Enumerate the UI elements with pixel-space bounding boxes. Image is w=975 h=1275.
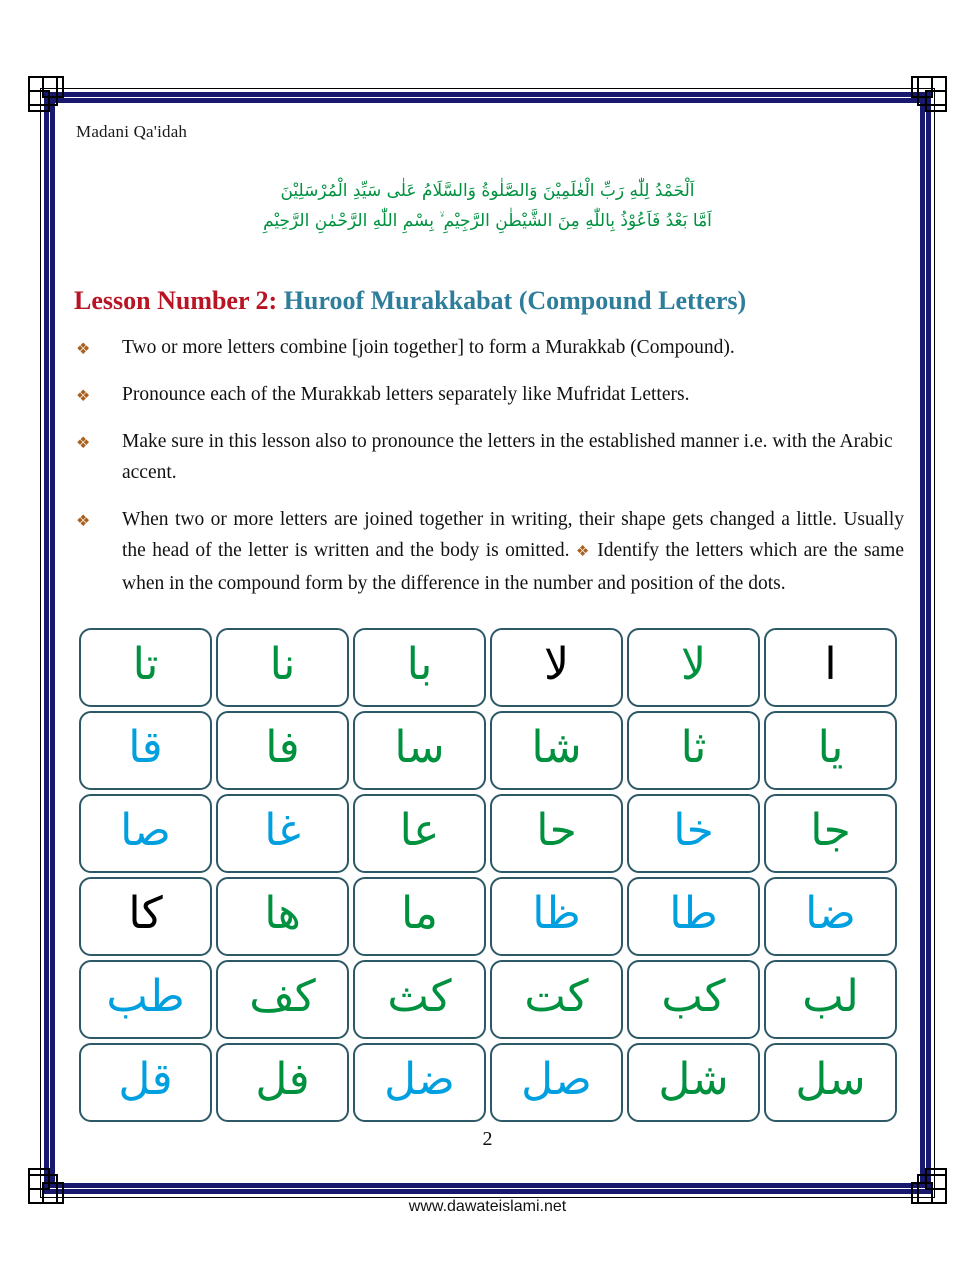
letter-cell[interactable]: قا (79, 711, 212, 790)
letter-glyph: صا (120, 809, 171, 859)
letter-glyph: شا (531, 726, 581, 776)
basmala-block: اَلْحَمْدُ لِلّٰهِ رَبِّ الْعٰلَمِيْنَ و… (57, 176, 918, 236)
letter-cell[interactable]: كب (627, 960, 760, 1039)
list-item: ❖ Two or more letters combine [join toge… (74, 332, 904, 363)
corner-ornament-top-left (28, 76, 74, 122)
letter-glyph: ضل (384, 1058, 455, 1108)
letter-cell[interactable]: غا (216, 794, 349, 873)
letter-glyph: شل (658, 1058, 728, 1108)
letter-cell[interactable]: كا (79, 877, 212, 956)
letter-cell[interactable]: صا (79, 794, 212, 873)
letter-glyph: خا (673, 809, 714, 859)
letter-glyph: كف (249, 975, 316, 1025)
letter-glyph: كت (524, 975, 588, 1025)
letter-cell[interactable]: ا (764, 628, 897, 707)
letter-glyph: جا (810, 809, 851, 859)
diamond-bullet-icon: ❖ (76, 334, 90, 365)
list-item-text: Make sure in this lesson also to pronoun… (122, 431, 893, 483)
letter-cell[interactable]: جا (764, 794, 897, 873)
page-number: 2 (0, 1128, 975, 1151)
letter-glyph: طا (669, 892, 717, 942)
list-item: ❖ Make sure in this lesson also to prono… (74, 426, 904, 488)
letter-cell[interactable]: كث (353, 960, 486, 1039)
letter-glyph: فا (265, 726, 299, 776)
letter-glyph: كث (387, 975, 451, 1025)
letter-cell[interactable]: عا (353, 794, 486, 873)
diamond-bullet-icon: ❖ (76, 428, 90, 459)
letter-glyph: نا (270, 643, 296, 693)
page-title: Lesson Number 2: Huroof Murakkabat (Comp… (74, 286, 904, 316)
letter-cell[interactable]: طا (627, 877, 760, 956)
letter-glyph: فل (255, 1058, 309, 1108)
letter-cell[interactable]: نا (216, 628, 349, 707)
letter-cell[interactable]: سل (764, 1043, 897, 1122)
diamond-bullet-icon: ❖ (76, 381, 90, 412)
letter-cell[interactable]: قل (79, 1043, 212, 1122)
letter-cell[interactable]: طب (79, 960, 212, 1039)
letter-cell[interactable]: صل (490, 1043, 623, 1122)
basmala-line-2: اَمَّا بَعْدُ فَاَعُوْذُ بِاللّٰهِ مِنَ … (57, 206, 918, 236)
letter-cell[interactable]: فل (216, 1043, 349, 1122)
letter-cell[interactable]: ثا (627, 711, 760, 790)
letter-glyph: لا (544, 643, 569, 693)
site-url: www.dawateislami.net (0, 1198, 975, 1216)
compound-letter-grid: تانابالالااقافاساشاثاياصاغاعاحاخاجاكاهام… (77, 626, 899, 1124)
letter-cell[interactable]: ظا (490, 877, 623, 956)
letter-glyph: صل (521, 1058, 592, 1108)
lesson-notes-list: ❖ Two or more letters combine [join toge… (74, 332, 904, 615)
running-head: Madani Qa'idah (76, 122, 187, 142)
letter-glyph: ما (401, 892, 438, 942)
lesson-number-label: Lesson Number 2: (74, 286, 277, 315)
letter-glyph: ثا (681, 726, 707, 776)
letter-glyph: غا (264, 809, 300, 859)
list-item: ❖ Pronounce each of the Murakkab letters… (74, 379, 904, 410)
basmala-line-1: اَلْحَمْدُ لِلّٰهِ رَبِّ الْعٰلَمِيْنَ و… (57, 176, 918, 206)
letter-glyph: ضا (805, 892, 856, 942)
letter-glyph: ظا (532, 892, 580, 942)
lesson-name: Huroof Murakkabat (Compound Letters) (284, 286, 746, 315)
letter-cell[interactable]: لا (627, 628, 760, 707)
letter-cell[interactable]: خا (627, 794, 760, 873)
list-item: ❖ When two or more letters are joined to… (74, 504, 904, 599)
letter-cell[interactable]: سا (353, 711, 486, 790)
letter-glyph: طب (106, 975, 184, 1025)
letter-glyph: كب (661, 975, 725, 1025)
letter-glyph: حا (536, 809, 577, 859)
letter-glyph: قل (118, 1058, 172, 1108)
letter-cell[interactable]: كت (490, 960, 623, 1039)
letter-cell[interactable]: ها (216, 877, 349, 956)
letter-cell[interactable]: لب (764, 960, 897, 1039)
letter-cell[interactable]: يا (764, 711, 897, 790)
letter-glyph: با (407, 643, 433, 693)
letter-cell[interactable]: با (353, 628, 486, 707)
list-item-text: Two or more letters combine [join togeth… (122, 337, 735, 358)
letter-cell[interactable]: كف (216, 960, 349, 1039)
letter-glyph: قا (128, 726, 162, 776)
letter-cell[interactable]: ضل (353, 1043, 486, 1122)
letter-cell[interactable]: لا (490, 628, 623, 707)
letter-glyph: تا (133, 643, 159, 693)
letter-cell[interactable]: شا (490, 711, 623, 790)
letter-cell[interactable]: تا (79, 628, 212, 707)
letter-glyph: لا (681, 643, 706, 693)
letter-glyph: ها (264, 892, 301, 942)
inline-diamond-bullet-icon: ❖ (576, 544, 591, 560)
letter-glyph: لب (802, 975, 859, 1025)
page-canvas: Madani Qa'idah اَلْحَمْدُ لِلّٰهِ رَبِّ … (0, 0, 975, 1275)
diamond-bullet-icon: ❖ (76, 506, 90, 537)
letter-cell[interactable]: ضا (764, 877, 897, 956)
letter-cell[interactable]: ما (353, 877, 486, 956)
list-item-text: Pronounce each of the Murakkab letters s… (122, 384, 689, 405)
letter-glyph: ا (824, 643, 836, 693)
letter-glyph: عا (400, 809, 440, 859)
letter-glyph: كا (128, 892, 162, 942)
letter-glyph: يا (818, 726, 844, 776)
letter-cell[interactable]: شل (627, 1043, 760, 1122)
letter-cell[interactable]: حا (490, 794, 623, 873)
letter-glyph: سا (394, 726, 444, 776)
letter-glyph: سل (795, 1058, 865, 1108)
corner-ornament-top-right (901, 76, 947, 122)
letter-cell[interactable]: فا (216, 711, 349, 790)
